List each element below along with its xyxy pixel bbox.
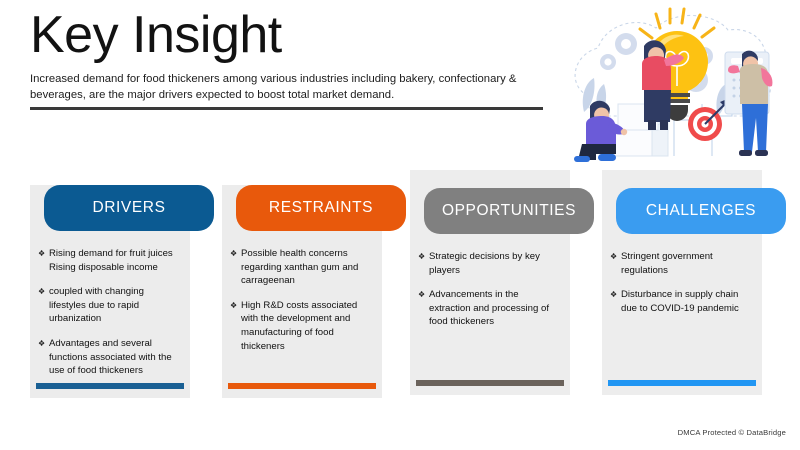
card-accent-bar — [608, 380, 756, 386]
card-header-drivers: DRIVERS — [44, 185, 214, 231]
card-challenges[interactable]: CHALLENGES ❖ Stringent government regula… — [602, 170, 762, 395]
list-item: ❖ High R&D costs associated with the dev… — [222, 299, 374, 353]
tab-notch — [44, 231, 58, 245]
tab-notch — [236, 231, 250, 245]
list-item: ❖ Rising demand for fruit juices Rising … — [30, 247, 182, 274]
list-item: ❖ Disturbance in supply chain due to COV… — [602, 288, 754, 315]
diamond-bullet-icon: ❖ — [230, 299, 241, 353]
list-item: ❖ Advancements in the extraction and pro… — [410, 288, 562, 329]
diamond-bullet-icon: ❖ — [610, 288, 621, 315]
card-accent-bar — [228, 383, 376, 389]
card-drivers[interactable]: DRIVERS ❖ Rising demand for fruit juices… — [30, 185, 190, 398]
list-item: ❖ Strategic decisions by key players — [410, 250, 562, 277]
diamond-bullet-icon: ❖ — [38, 247, 49, 274]
card-title: OPPORTUNITIES — [442, 202, 576, 220]
swot-cards-container: DRIVERS ❖ Rising demand for fruit juices… — [0, 0, 800, 450]
diamond-bullet-icon: ❖ — [230, 247, 241, 288]
card-bullet-list: ❖ Stringent government regulations ❖ Dis… — [602, 250, 754, 326]
diamond-bullet-icon: ❖ — [38, 285, 49, 326]
card-bullet-list: ❖ Rising demand for fruit juices Rising … — [30, 247, 182, 389]
card-restraints[interactable]: RESTRAINTS ❖ Possible health concerns re… — [222, 185, 382, 398]
diamond-bullet-icon: ❖ — [38, 337, 49, 378]
card-bullet-list: ❖ Strategic decisions by key players ❖ A… — [410, 250, 562, 340]
tab-notch — [424, 234, 438, 248]
list-item: ❖ Advantages and several functions assoc… — [30, 337, 182, 378]
footer-copyright: DMCA Protected © DataBridge — [678, 428, 786, 437]
list-item: ❖ coupled with changing lifestyles due t… — [30, 285, 182, 326]
card-bullet-list: ❖ Possible health concerns regarding xan… — [222, 247, 374, 364]
diamond-bullet-icon: ❖ — [610, 250, 621, 277]
list-item: ❖ Possible health concerns regarding xan… — [222, 247, 374, 288]
card-title: RESTRAINTS — [269, 199, 373, 217]
card-accent-bar — [36, 383, 184, 389]
tab-notch — [616, 234, 630, 248]
diamond-bullet-icon: ❖ — [418, 250, 429, 277]
card-accent-bar — [416, 380, 564, 386]
list-item: ❖ Stringent government regulations — [602, 250, 754, 277]
card-header-opportunities: OPPORTUNITIES — [424, 188, 594, 234]
card-header-restraints: RESTRAINTS — [236, 185, 406, 231]
card-title: DRIVERS — [92, 199, 165, 217]
diamond-bullet-icon: ❖ — [418, 288, 429, 329]
card-header-challenges: CHALLENGES — [616, 188, 786, 234]
card-opportunities[interactable]: OPPORTUNITIES ❖ Strategic decisions by k… — [410, 170, 570, 395]
card-title: CHALLENGES — [646, 202, 756, 220]
